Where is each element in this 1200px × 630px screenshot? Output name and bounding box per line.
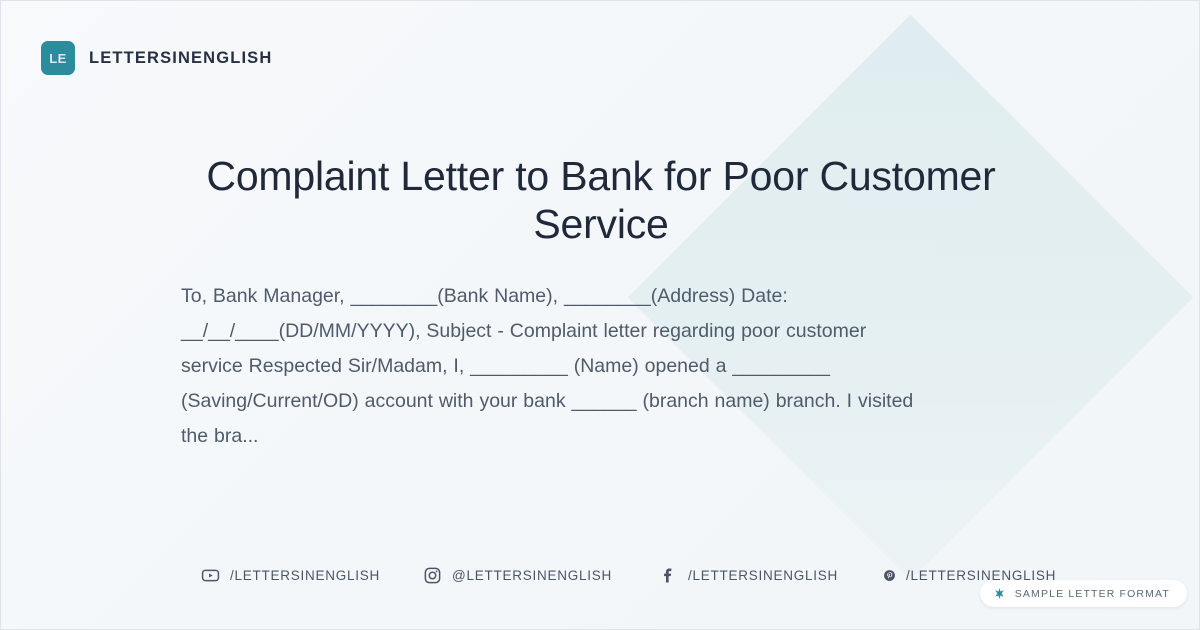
content-block: Complaint Letter to Bank for Poor Custom… xyxy=(181,153,1021,454)
social-link-facebook[interactable]: /LETTERSINENGLISH xyxy=(659,566,838,585)
instagram-icon xyxy=(423,566,442,585)
social-card: LE LETTERSINENGLISH Complaint Letter to … xyxy=(0,0,1200,630)
format-badge-label: SAMPLE LETTER FORMAT xyxy=(1015,588,1170,600)
social-label-youtube: /LETTERSINENGLISH xyxy=(230,568,380,583)
format-badge[interactable]: SAMPLE LETTER FORMAT xyxy=(980,580,1187,607)
pinterest-icon xyxy=(883,569,896,582)
social-link-instagram[interactable]: @LETTERSINENGLISH xyxy=(423,566,612,585)
social-link-youtube[interactable]: /LETTERSINENGLISH xyxy=(201,566,380,585)
social-label-facebook: /LETTERSINENGLISH xyxy=(688,568,838,583)
lightning-bolt-icon xyxy=(993,587,1006,600)
youtube-icon xyxy=(201,566,220,585)
page-title: Complaint Letter to Bank for Poor Custom… xyxy=(181,153,1021,249)
brand-name: LETTERSINENGLISH xyxy=(89,49,272,68)
facebook-icon xyxy=(659,566,678,585)
social-label-instagram: @LETTERSINENGLISH xyxy=(452,568,612,583)
brand-monogram-icon: LE xyxy=(41,41,75,75)
social-links: /LETTERSINENGLISH @LETTERSINENGLISH /LET… xyxy=(201,566,1056,585)
letter-excerpt: To, Bank Manager, ________(Bank Name), _… xyxy=(181,279,931,454)
brand-logo[interactable]: LE LETTERSINENGLISH xyxy=(41,41,272,75)
